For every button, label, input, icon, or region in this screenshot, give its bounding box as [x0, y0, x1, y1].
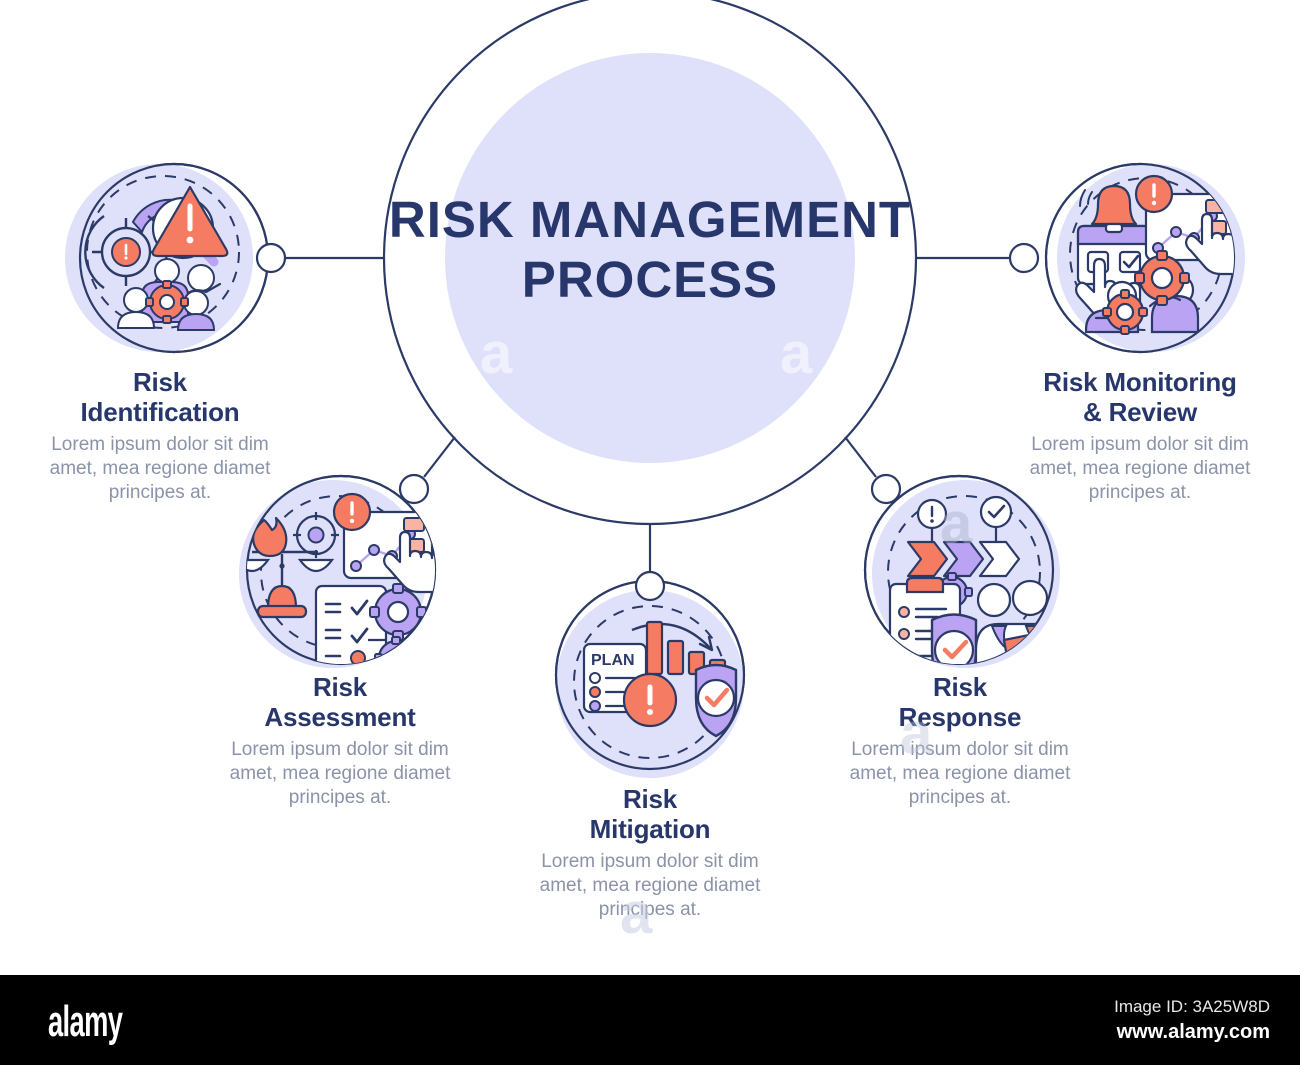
node-mitigation [636, 572, 664, 600]
footer-url: www.alamy.com [1010, 1021, 1270, 1044]
label-risk-monitoring: Risk Monitoring & Review Lorem ipsum dol… [990, 367, 1290, 506]
risk-response-desc: Lorem ipsum dolor sit dim amet, mea regi… [810, 738, 1110, 811]
label-risk-assessment: Risk Assessment Lorem ipsum dolor sit di… [190, 672, 490, 811]
risk-monitoring-title: Risk Monitoring & Review [990, 367, 1290, 428]
label-risk-mitigation: Risk Mitigation Lorem ipsum dolor sit di… [500, 784, 800, 923]
chevron-arrows-icon [908, 542, 1019, 576]
risk-mitigation-title: Risk Mitigation [500, 784, 800, 845]
alamy-logo: alamy [48, 1000, 122, 1044]
node-assessment [400, 475, 428, 503]
node-response [872, 475, 900, 503]
node-monitoring [1010, 244, 1038, 272]
node-identification [257, 244, 285, 272]
alert-circle-icon [624, 674, 676, 726]
risk-identification-desc: Lorem ipsum dolor sit dim amet, mea regi… [10, 433, 310, 506]
connector-response [845, 437, 876, 477]
diagram-title: RISK MANAGEMENT PROCESS [330, 190, 970, 310]
alert-circle-icon [1136, 176, 1172, 212]
risk-monitoring-desc: Lorem ipsum dolor sit dim amet, mea regi… [990, 433, 1290, 506]
infographic-canvas: PLAN [0, 0, 1300, 1065]
label-risk-identification: Risk Identification Lorem ipsum dolor si… [10, 367, 310, 506]
risk-assessment-desc: Lorem ipsum dolor sit dim amet, mea regi… [190, 738, 490, 811]
risk-identification-title: Risk Identification [10, 367, 310, 428]
checklist-icon [316, 586, 386, 672]
footer-image-id: Image ID: 3A25W8D [1010, 997, 1270, 1017]
connector-assessment [424, 437, 455, 477]
risk-response-title: Risk Response [810, 672, 1110, 733]
svg-text:PLAN: PLAN [591, 652, 635, 669]
risk-mitigation-desc: Lorem ipsum dolor sit dim amet, mea regi… [500, 850, 800, 923]
stock-footer-bar [0, 975, 1300, 1065]
label-risk-response: Risk Response Lorem ipsum dolor sit dim … [810, 672, 1110, 811]
risk-assessment-title: Risk Assessment [190, 672, 490, 733]
